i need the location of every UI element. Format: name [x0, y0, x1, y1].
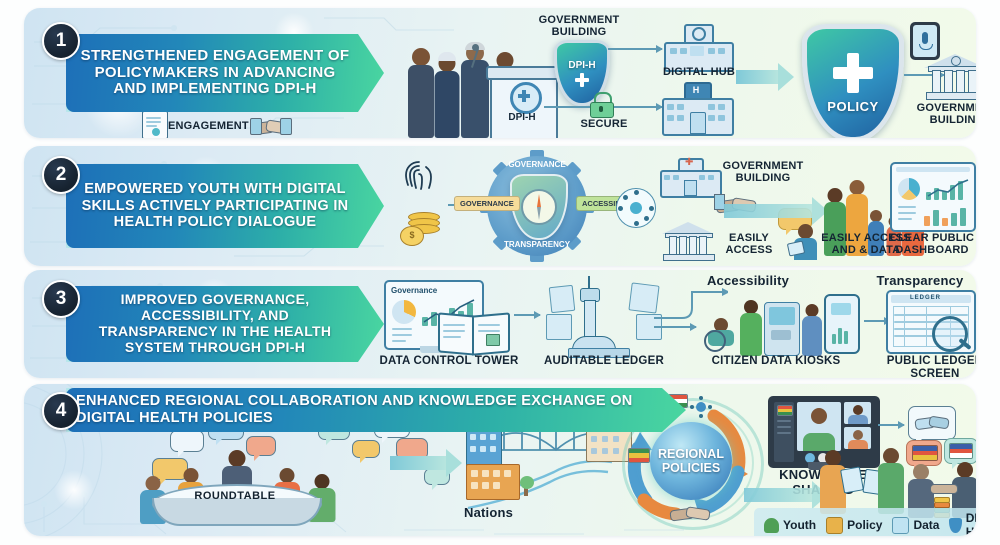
- arrow-to-digital-hub: [608, 48, 662, 50]
- row-4: 4 ENHANCED REGIONAL COLLABORATION AND KN…: [24, 384, 976, 536]
- row-3: 3 IMPROVED GOVERNANCE, ACCESSIBILITY, AN…: [24, 270, 976, 378]
- bank-building-icon: [662, 222, 714, 260]
- arrow-to-policy-shield: [736, 70, 780, 84]
- caption-regional-policies: REGIONAL POLICIES: [650, 447, 732, 476]
- legend: Youth Policy Data DPI-H: [754, 508, 976, 536]
- caption-government-building-row2: GOVERNMENT BUILDING: [714, 160, 812, 185]
- caption-government-building-2: GOVERNMENT BUILDING: [914, 102, 976, 127]
- row-4-banner: ENHANCED REGIONAL COLLABORATION AND KNOW…: [66, 388, 686, 432]
- citizen-data-kiosks: [704, 294, 864, 356]
- arrow-to-auditable-ledger: [514, 314, 540, 316]
- caption-clear-public-dashboard: CLEAR PUBLIC DASHBOARD: [884, 232, 976, 257]
- row-1-banner-text: STRENGTHENED ENGAGEMENT OF POLICYMAKERS …: [66, 48, 384, 99]
- step-number-badge-2: 2: [42, 156, 80, 194]
- step-number-badge-4: 4: [42, 392, 80, 430]
- step-number-badge-1: 1: [42, 22, 80, 60]
- caption-data-control-tower: DATA CONTROL TOWER: [374, 355, 524, 368]
- infographic-canvas: 1 STRENGTHENED ENGAGEMENT OF POLICYMAKER…: [0, 0, 1000, 545]
- legend-item-dpih: DPI-H: [949, 511, 976, 536]
- legend-label-youth: Youth: [783, 518, 816, 532]
- podium: DPI-H: [490, 66, 554, 138]
- gear-tag-bottom: TRANSPARENCY: [496, 240, 578, 249]
- gear-tag-left: GOVERNANCE: [454, 196, 520, 211]
- coins-icon: $: [400, 212, 442, 244]
- caption-public-ledger-screen: PUBLIC LEDGER SCREEN: [880, 355, 976, 378]
- shield-icon: [949, 518, 961, 533]
- open-book-icon: [438, 312, 506, 352]
- legend-item-youth: Youth: [764, 518, 816, 533]
- row-1-banner: STRENGTHENED ENGAGEMENT OF POLICYMAKERS …: [66, 34, 384, 112]
- auditable-ledger-tower: [544, 274, 664, 356]
- public-ledger-screen: LEDGER: [886, 290, 976, 354]
- digital-hub-building: [664, 24, 730, 68]
- government-building-classical: [924, 54, 976, 100]
- handshake-icon: [252, 116, 288, 136]
- engagement-label: ENGAGEMENT: [168, 120, 258, 132]
- gear-tag-top: GOVERNANCE: [496, 160, 578, 169]
- row-1: 1 STRENGTHENED ENGAGEMENT OF POLICYMAKER…: [24, 8, 976, 138]
- caption-digital-hub: DIGITAL HUB: [654, 66, 744, 78]
- row-4-banner-text: ENHANCED REGIONAL COLLABORATION AND KNOW…: [66, 393, 686, 428]
- arrow-to-handshake-bubble: [878, 424, 904, 426]
- arrow-to-citizens: [724, 204, 814, 218]
- legend-item-policy: Policy: [826, 517, 882, 534]
- caption-citizen-data-kiosks: CITIZEN DATA KIOSKS: [696, 355, 856, 368]
- caption-auditable-ledger: AUDITABLE LEDGER: [534, 355, 674, 368]
- youth-icon: [764, 518, 779, 533]
- dashboard-title: Governance: [391, 286, 437, 295]
- document-icon: [142, 111, 168, 138]
- podium-label: DPI-H: [490, 112, 554, 123]
- caption-easily-access: EASILY ACCESS: [718, 232, 780, 257]
- clipboard-icon: [826, 517, 843, 534]
- caption-secure: SECURE: [576, 118, 632, 130]
- roundtable-scene: ROUNDTABLE: [112, 432, 382, 530]
- virus-node-icon-row4: [690, 396, 712, 418]
- caption-nations: Nations: [464, 506, 554, 521]
- row-3-banner: IMPROVED GOVERNANCE, ACCESSIBILITY, AND …: [66, 286, 384, 362]
- lock-icon: [590, 92, 612, 116]
- arrow-to-final-handshake: [744, 488, 814, 502]
- overhead-label-accessibility: Accessibility: [688, 274, 808, 289]
- overhead-label-transparency: Transparency: [860, 274, 976, 289]
- policy-shield-label: POLICY: [827, 99, 878, 114]
- handshake-bubble-icon: [908, 406, 956, 440]
- caption-roundtable: ROUNDTABLE: [152, 490, 318, 502]
- caption-government-building-1: GOVERNMENT BUILDING: [524, 14, 634, 39]
- dpih-shield-label: DPI-H: [568, 60, 595, 71]
- ledger-title: LEDGER: [910, 295, 941, 301]
- fingerprint-icon: [402, 158, 436, 192]
- row-2: 2 EMPOWERED YOUTH WITH DIGITAL SKILLS AC…: [24, 146, 976, 266]
- virus-node-icon: [616, 188, 656, 228]
- policy-shield: POLICY: [802, 24, 904, 138]
- step-number-badge-3: 3: [42, 280, 80, 318]
- flag-icon-5: [777, 405, 793, 416]
- arrow-to-kiosks: [654, 326, 696, 328]
- legend-label-policy: Policy: [847, 518, 882, 532]
- row-2-banner-text: EMPOWERED YOUTH WITH DIGITAL SKILLS ACTI…: [66, 181, 384, 230]
- legend-item-data: Data: [892, 517, 939, 534]
- government-hospital-icon: ✚: [660, 158, 718, 194]
- row-2-banner: EMPOWERED YOUTH WITH DIGITAL SKILLS ACTI…: [66, 164, 384, 248]
- legend-label-data: Data: [913, 518, 939, 532]
- public-dashboard-screen: [890, 162, 976, 232]
- document-data-icon: [892, 517, 909, 534]
- row-3-banner-text: IMPROVED GOVERNANCE, ACCESSIBILITY, AND …: [66, 292, 384, 355]
- flag-icon-3: [628, 448, 650, 463]
- flag-icon-6: [912, 445, 938, 461]
- arrow-to-nations: [390, 456, 448, 470]
- legend-label-dpih: DPI-H: [966, 511, 976, 536]
- handshake-icon-row4: [670, 504, 708, 522]
- hospital-building: H: [662, 82, 730, 132]
- flag-icon-7: [949, 443, 973, 459]
- youth-data-exchange: [820, 442, 906, 514]
